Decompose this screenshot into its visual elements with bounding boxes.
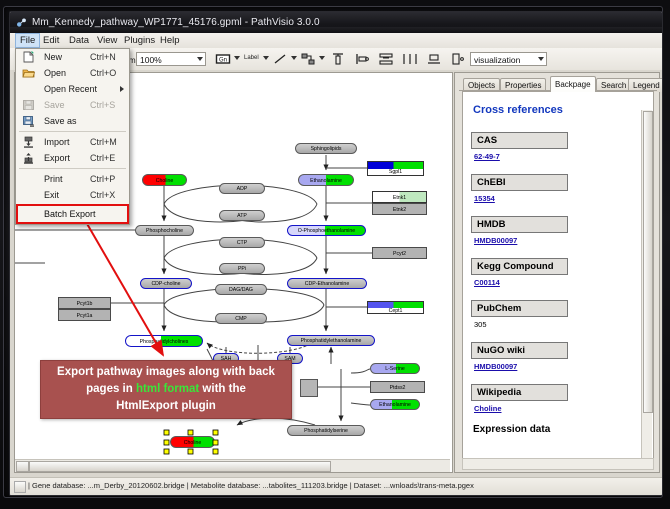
folder-open-icon — [22, 67, 35, 79]
file-menu-print[interactable]: Print Ctrl+P — [16, 171, 129, 187]
file-menu-open-recent[interactable]: Open Recent — [16, 81, 129, 97]
distribute-horizontal-icon[interactable] — [402, 51, 418, 67]
node-gene-cept1[interactable]: Cept1 — [367, 301, 424, 314]
annotation-callout: Export pathway images along with back pa… — [40, 360, 292, 419]
file-menu-new-label: New — [44, 49, 62, 65]
callout-highlight: html format — [136, 383, 199, 395]
file-dropdown-menu[interactable]: New Ctrl+N Open Ctrl+O Open Recent — [15, 48, 130, 225]
interaction-dropdown-icon[interactable] — [319, 56, 325, 60]
menu-edit[interactable]: Edit — [39, 34, 63, 47]
gene-label-cept1: Cept1 — [368, 308, 423, 314]
node-phosphocholine[interactable]: Phosphocholine — [135, 225, 194, 236]
node-choline-top[interactable]: Choline — [142, 174, 187, 186]
export-icon — [22, 152, 35, 164]
zoom-combo[interactable]: 100% — [136, 52, 206, 66]
zoom-value: 100% — [140, 55, 162, 65]
xref-source-hmdb: HMDB — [471, 216, 568, 233]
xref-value-chebi[interactable]: 15354 — [474, 194, 635, 203]
file-menu-open-accel: Ctrl+O — [90, 65, 116, 81]
menu-help[interactable]: Help — [156, 34, 184, 47]
file-menu-import[interactable]: Import Ctrl+M — [16, 134, 129, 150]
file-menu-save-label: Save — [44, 97, 65, 113]
node-sphingolipids[interactable]: Sphingolipids — [295, 143, 357, 154]
selection-handles[interactable] — [163, 429, 223, 456]
node-l-serine[interactable]: L-Serine — [370, 363, 420, 374]
node-dag-dag[interactable]: DAG/DAG — [215, 284, 267, 295]
xref-source-chebi: ChEBI — [471, 174, 568, 191]
import-icon — [22, 136, 35, 148]
chevron-down-icon — [197, 57, 203, 61]
xref-value-nugo[interactable]: HMDB00097 — [474, 362, 635, 371]
node-o-phosphoethanolamine[interactable]: O-Phosphoethanolamine — [287, 225, 366, 236]
file-menu-print-accel: Ctrl+P — [90, 171, 115, 187]
xref-source-wikipedia: Wikipedia — [471, 384, 568, 401]
desktop-backdrop: Mm_Kennedy_pathway_WP1771_45176.gpml - P… — [0, 0, 670, 509]
node-gene-pcyt1a[interactable]: Pcyt1a — [58, 309, 111, 321]
tab-backpage[interactable]: Backpage — [550, 76, 596, 92]
backpage-scroll-thumb[interactable] — [643, 111, 653, 413]
label-button[interactable]: Label — [244, 55, 259, 61]
file-menu-save-as[interactable]: Save as — [16, 113, 129, 129]
submenu-arrow-icon — [120, 86, 124, 92]
node-gene-pcyt2[interactable]: Pcyt2 — [372, 247, 427, 259]
line-dropdown-icon[interactable] — [291, 56, 297, 60]
order-icon[interactable] — [450, 51, 466, 67]
menu-data[interactable]: Data — [65, 34, 93, 47]
xref-source-nugo: NuGO wiki — [471, 342, 568, 359]
xref-value-pubchem: 305 — [474, 320, 635, 329]
callout-line2-a: pages in — [86, 383, 136, 395]
node-gene-sgpl1[interactable]: Sgpl1 — [367, 161, 424, 176]
file-menu-save-accel: Ctrl+S — [90, 97, 115, 113]
file-menu-batch-export[interactable]: Batch Export — [16, 204, 129, 224]
side-panel: Objects Properties Backpage Search Legen… — [454, 72, 660, 473]
file-menu-exit[interactable]: Exit Ctrl+X — [16, 187, 129, 203]
file-menu-new-accel: Ctrl+N — [90, 49, 116, 65]
node-ppi[interactable]: PPi — [219, 263, 265, 274]
menu-separator-1 — [19, 131, 126, 132]
status-bar: | Gene database: ...m_Derby_20120602.bri… — [10, 477, 662, 495]
pathvisio-window: Mm_Kennedy_pathway_WP1771_45176.gpml - P… — [9, 11, 663, 496]
file-menu-exit-accel: Ctrl+X — [90, 187, 115, 203]
node-atp[interactable]: ATP — [219, 210, 265, 221]
gene-product-icon[interactable]: Gn — [215, 51, 231, 67]
gene-dropdown-icon[interactable] — [234, 56, 240, 60]
node-ctp[interactable]: CTP — [219, 237, 265, 248]
file-menu-open-label: Open — [44, 65, 66, 81]
align-left-icon[interactable] — [354, 51, 370, 67]
node-cdp-choline[interactable]: CDP-choline — [140, 278, 192, 289]
new-file-icon — [22, 51, 35, 63]
xref-value-hmdb[interactable]: HMDB00097 — [474, 236, 635, 245]
canvas-horizontal-scrollbar[interactable] — [15, 459, 450, 472]
side-panel-tabs: Objects Properties Backpage Search Legen… — [459, 76, 657, 91]
align-top-icon[interactable] — [330, 51, 346, 67]
chevron-down-icon — [538, 57, 544, 61]
stack-icon[interactable] — [378, 51, 394, 67]
line-icon[interactable] — [272, 51, 288, 67]
xref-source-pubchem: PubChem — [471, 300, 568, 317]
file-menu-print-label: Print — [44, 171, 63, 187]
menu-bar: File Edit Data View Plugins Help — [10, 33, 662, 49]
cross-references-heading: Cross references — [473, 104, 635, 116]
node-adp[interactable]: ADP — [219, 183, 265, 194]
callout-line3: HtmlExport plugin — [116, 400, 216, 412]
align-center-icon[interactable] — [426, 51, 442, 67]
xref-source-kegg: Kegg Compound — [471, 258, 568, 275]
menu-separator-2 — [19, 168, 126, 169]
scroll-left-button[interactable] — [16, 461, 29, 472]
file-menu-export-label: Export — [44, 150, 70, 166]
save-icon — [22, 99, 35, 111]
backpage-content: Cross references CAS 62-49-7 ChEBI 15354… — [463, 92, 641, 464]
file-menu-batch-export-label: Batch Export — [44, 206, 96, 222]
file-menu-import-label: Import — [44, 134, 70, 150]
xref-value-kegg[interactable]: C00114 — [474, 278, 635, 287]
node-cdp-ethanolamine[interactable]: CDP-Ethanolamine — [287, 278, 367, 289]
visualization-value: visualization — [474, 55, 520, 65]
status-text: | Gene database: ...m_Derby_20120602.bri… — [28, 481, 474, 490]
node-ethanolamine-top[interactable]: Ethanolamine — [298, 174, 354, 186]
interaction-icon[interactable] — [300, 51, 316, 67]
file-menu-save-as-label: Save as — [44, 113, 77, 129]
gene-label-sgpl1: Sgpl1 — [368, 169, 423, 176]
file-menu-open[interactable]: Open Ctrl+O — [16, 65, 129, 81]
file-menu-save: Save Ctrl+S — [16, 97, 129, 113]
node-cmp[interactable]: CMP — [215, 313, 267, 324]
node-ethanolamine-right[interactable]: Ethanolamine — [370, 399, 420, 410]
menu-file[interactable]: File — [15, 33, 40, 48]
node-gene-pcyt1b[interactable]: Pcyt1b — [58, 297, 111, 309]
file-menu-exit-label: Exit — [44, 187, 59, 203]
node-gene-ptdss2[interactable]: Ptdss2 — [370, 381, 425, 393]
menu-view[interactable]: View — [93, 34, 121, 47]
node-gene-etnk1[interactable]: Etnk1 — [372, 191, 427, 203]
expression-data-heading: Expression data — [473, 424, 635, 435]
backpage-horizontal-scrollbar[interactable] — [462, 458, 654, 470]
backpage-body: Cross references CAS 62-49-7 ChEBI 15354… — [462, 91, 654, 467]
callout-line2-b: with the — [199, 383, 246, 395]
title-bar: Mm_Kennedy_pathway_WP1771_45176.gpml - P… — [10, 12, 662, 33]
label-dropdown-icon[interactable] — [263, 56, 269, 60]
xref-value-wikipedia[interactable]: Choline — [474, 404, 635, 413]
node-anchor-box[interactable] — [300, 379, 318, 397]
node-gene-etnk2[interactable]: Etnk2 — [372, 203, 427, 215]
svg-text:Gn: Gn — [219, 58, 227, 64]
backpage-vertical-scrollbar[interactable] — [641, 110, 652, 467]
callout-line1: Export pathway images along with back — [57, 366, 275, 378]
file-menu-open-recent-label: Open Recent — [44, 81, 97, 97]
file-menu-import-accel: Ctrl+M — [90, 134, 117, 150]
file-menu-export-accel: Ctrl+E — [90, 150, 115, 166]
scroll-thumb[interactable] — [29, 461, 331, 472]
visualization-combo[interactable]: visualization — [470, 52, 547, 66]
node-phosphatidylserine[interactable]: Phosphatidylserine — [287, 425, 365, 436]
status-grip-icon — [14, 481, 26, 493]
xref-source-cas: CAS — [471, 132, 568, 149]
file-menu-export[interactable]: Export Ctrl+E — [16, 150, 129, 166]
menu-plugins[interactable]: Plugins — [120, 34, 159, 47]
file-menu-new[interactable]: New Ctrl+N — [16, 49, 129, 65]
xref-value-cas[interactable]: 62-49-7 — [474, 152, 635, 161]
node-phosphatidylcholines[interactable]: Phosphatidylcholines — [125, 335, 203, 347]
node-phosphatidylethanolamine[interactable]: Phosphatidylethanolamine — [287, 335, 375, 346]
save-as-icon — [22, 115, 35, 127]
